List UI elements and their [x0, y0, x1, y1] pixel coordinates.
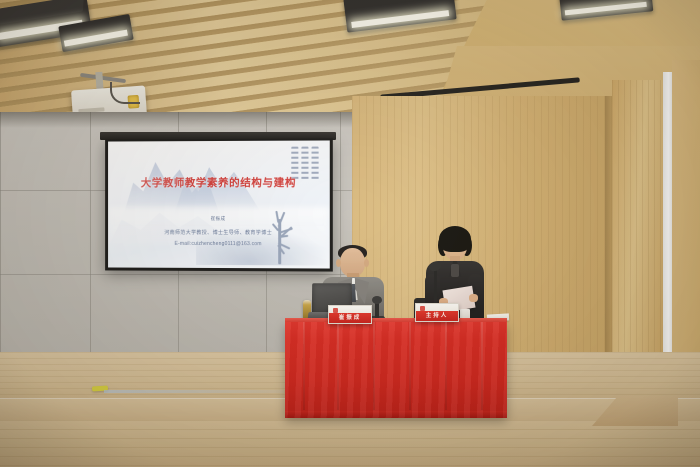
table-cloth-fold [373, 322, 375, 410]
table-cloth-fold [303, 322, 305, 410]
wall-top-shadow [0, 112, 352, 128]
placard-seal-icon [420, 306, 425, 311]
red-table-cloth [285, 322, 507, 418]
stage-floor-lower [0, 420, 700, 467]
wall-panel-seam-vertical [0, 112, 1, 357]
projector-cable [110, 82, 140, 104]
name-placard-moderator: 主持人 [415, 303, 459, 322]
table-cloth-fold [445, 322, 447, 410]
table-microphone [375, 300, 379, 320]
table-cloth-fold [337, 322, 339, 410]
wall-panel-seam-vertical [90, 112, 91, 357]
woman-hand-right [469, 294, 478, 302]
lecture-hall-photo: 大学教师教学素养的结构与建构 崔振成 河南师范大学教授、博士生导师、教育学博士 … [0, 0, 700, 467]
wall-panel-seam-horizontal [0, 274, 352, 275]
slide-title: 大学教师教学素养的结构与建构 [108, 175, 330, 190]
slide-presenter-name: 崔振成 [108, 216, 330, 222]
projection-screen: 大学教师教学素养的结构与建构 崔振成 河南师范大学教授、博士生导师、教育学博士 … [105, 138, 333, 271]
stage-edge-strip [104, 390, 284, 393]
woman-hair [439, 226, 471, 252]
slide-surface: 大学教师教学素养的结构与建构 崔振成 河南师范大学教授、博士生导师、教育学博士 … [108, 140, 330, 268]
slide-affiliation: 河南师范大学教授、博士生导师、教育学博士 [108, 228, 330, 235]
placard-seal-icon [333, 308, 338, 313]
slide-email: E-mail:cuizhencheng0111@163.com [108, 241, 330, 248]
woman-inner-top [451, 264, 459, 277]
placard-left-label: 崔振成 [329, 313, 371, 324]
table-cloth-fold [481, 322, 483, 410]
name-placard-presenter: 崔振成 [328, 305, 372, 324]
man-ear-left [336, 259, 341, 267]
placard-right-label: 主持人 [416, 311, 458, 322]
table-cloth-hem [285, 411, 507, 418]
man-ear-right [364, 259, 369, 267]
table-cloth-fold [409, 322, 411, 410]
